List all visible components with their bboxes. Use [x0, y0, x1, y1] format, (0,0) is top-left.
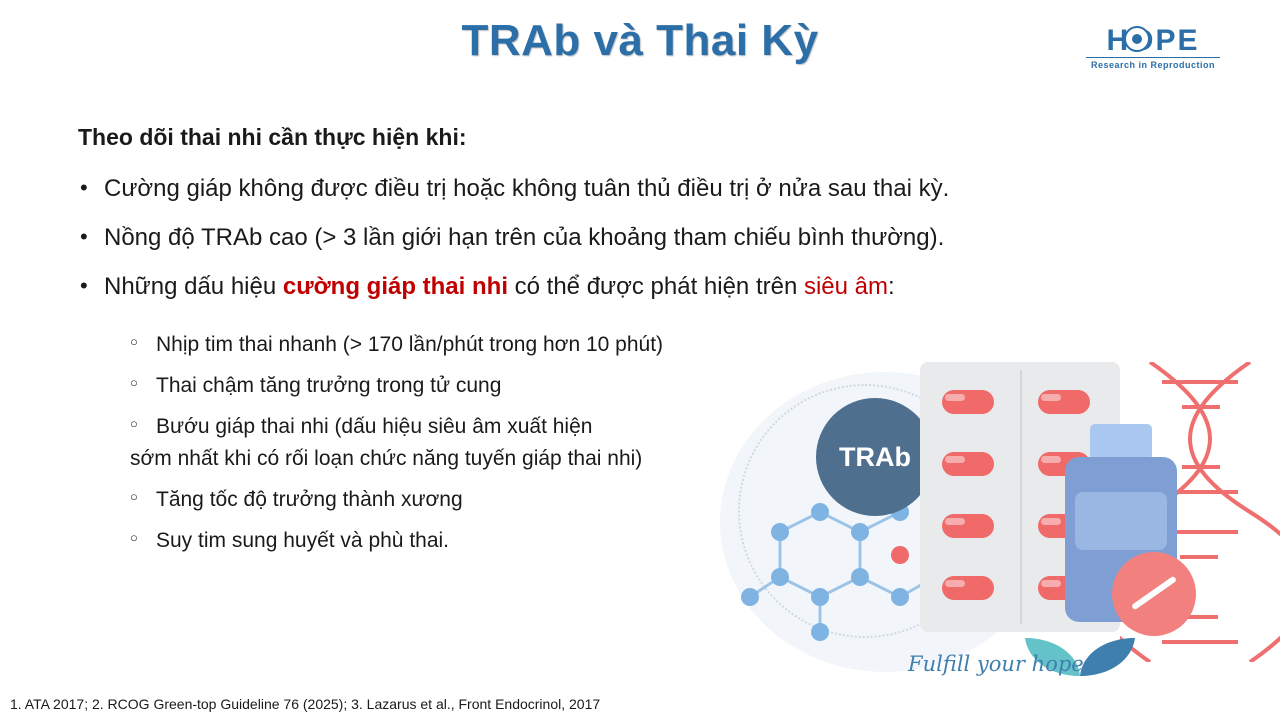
bottle-label: [1075, 492, 1167, 550]
sub-bullet-item: Nhịp tim thai nhanh (> 170 lần/phút tron…: [130, 332, 910, 357]
logo-divider: [1086, 57, 1220, 58]
molecule-accent-node: [891, 546, 909, 564]
blister-divider: [1020, 370, 1022, 624]
tablet-pill-icon: [1112, 552, 1196, 636]
bullet3-mid: có thể được phát hiện trên: [508, 273, 804, 300]
logo-wordmark: HOPE: [1078, 24, 1228, 58]
pill-icon: [1038, 390, 1090, 414]
logo-eye-icon: [1124, 26, 1150, 52]
illustration: TRAb: [720, 362, 1280, 692]
slide: TRAb và Thai Kỳ HOPE Research in Reprodu…: [0, 0, 1280, 720]
logo-subtitle: Research in Reproduction: [1078, 60, 1228, 70]
bullet-item: Cường giáp không được điều trị hoặc khôn…: [78, 174, 1198, 204]
bullet-item-highlighted: Những dấu hiệu cường giáp thai nhi có th…: [78, 272, 1198, 302]
lead-heading: Theo dõi thai nhi cần thực hiện khi:: [78, 124, 467, 151]
hope-logo: HOPE Research in Reproduction: [1078, 24, 1228, 86]
pill-icon: [942, 576, 994, 600]
trab-badge: TRAb: [816, 398, 934, 516]
bullet-list: Cường giáp không được điều trị hoặc khôn…: [78, 174, 1198, 321]
pill-icon: [942, 514, 994, 538]
pill-icon: [942, 452, 994, 476]
bullet-item: Nồng độ TRAb cao (> 3 lần giới hạn trên …: [78, 223, 1198, 253]
bullet3-post: :: [888, 273, 895, 300]
bullet3-pre: Những dấu hiệu: [104, 273, 283, 300]
bullet3-highlight: cường giáp thai nhi: [283, 273, 508, 300]
bottle-cap-icon: [1090, 424, 1152, 460]
bullet3-highlight2: siêu âm: [804, 273, 888, 300]
footer-references: 1. ATA 2017; 2. RCOG Green-top Guideline…: [10, 696, 600, 712]
tagline: Fulfill your hope: [908, 652, 1084, 676]
pill-icon: [942, 390, 994, 414]
